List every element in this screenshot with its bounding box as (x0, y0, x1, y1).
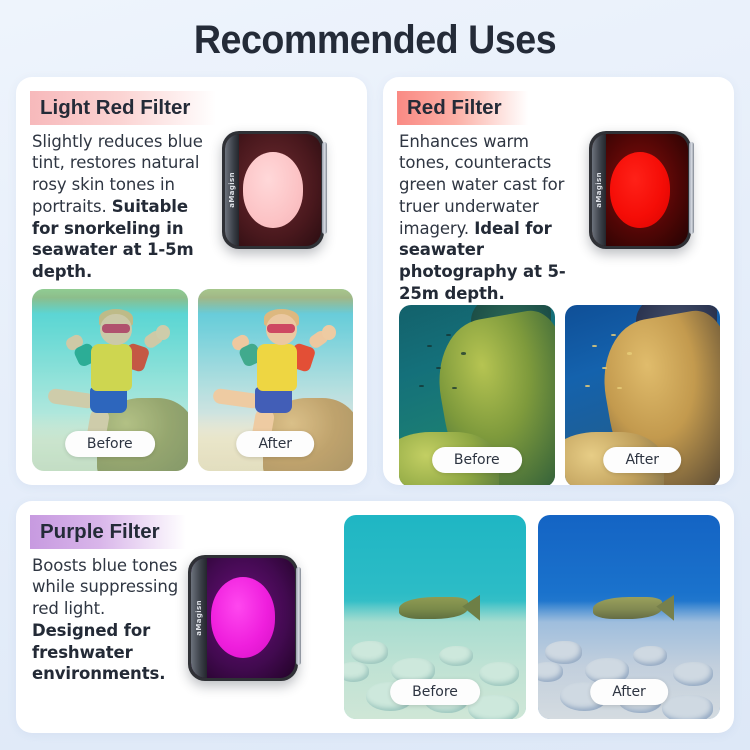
photo-pair-purple: Before After (344, 515, 720, 719)
card-purple-filter: Purple Filter Boosts blue tones while su… (16, 501, 734, 733)
filter-product-image-purple: aMagisn (188, 555, 298, 686)
card-red-filter: Red Filter Enhances warm tones, countera… (383, 77, 734, 485)
filter-title-red: Red Filter (397, 91, 528, 125)
photo-pair-light-red: Before After (32, 289, 353, 471)
filter-body-light-red: aMagisn (225, 134, 321, 246)
description-row-red: Enhances warm tones, counteracts green w… (399, 131, 720, 305)
description-plain-purple: Boosts blue tones while suppressing red … (32, 556, 178, 619)
filter-side-rail-purple: aMagisn (191, 558, 207, 678)
description-bold-purple: Designed for freshwater environments. (32, 621, 165, 684)
filter-title-light-red: Light Red Filter (30, 91, 216, 125)
photo-before-red: Before (399, 305, 555, 485)
filter-product-image-light-red: aMagisn (222, 131, 324, 283)
photo-after-purple: After (538, 515, 720, 719)
filter-lens-light-red (243, 152, 303, 228)
photo-pair-red: Before After (399, 305, 720, 485)
photo-label-before: Before (390, 679, 480, 705)
filter-side-rail-light-red: aMagisn (225, 134, 239, 246)
filter-frame-purple: aMagisn (188, 555, 298, 681)
filter-lens-red (610, 152, 670, 228)
filter-frame-light-red: aMagisn (222, 131, 324, 249)
photo-before-purple: Before (344, 515, 526, 719)
photo-after-red: After (565, 305, 721, 485)
brand-label: aMagisn (195, 600, 203, 636)
top-card-row: Light Red Filter Slightly reduces blue t… (16, 77, 734, 485)
description-purple: Boosts blue tones while suppressing red … (32, 555, 182, 686)
photo-label-before: Before (65, 431, 155, 457)
filter-side-rail-red: aMagisn (592, 134, 606, 246)
filter-product-image-red: aMagisn (589, 131, 691, 305)
photo-label-before: Before (432, 447, 522, 473)
description-row-purple: Boosts blue tones while suppressing red … (32, 555, 332, 686)
description-row-light-red: Slightly reduces blue tint, restores nat… (32, 131, 353, 283)
photo-after-light-red: After (198, 289, 354, 471)
description-red: Enhances warm tones, counteracts green w… (399, 131, 583, 305)
purple-filter-left-column: Purple Filter Boosts blue tones while su… (32, 515, 332, 719)
page-title: Recommended Uses (38, 0, 713, 77)
brand-label: aMagisn (228, 172, 236, 208)
filter-frame-red: aMagisn (589, 131, 691, 249)
description-light-red: Slightly reduces blue tint, restores nat… (32, 131, 216, 283)
card-light-red-filter: Light Red Filter Slightly reduces blue t… (16, 77, 367, 485)
filter-title-purple: Purple Filter (30, 515, 186, 549)
photo-label-after: After (590, 679, 668, 705)
photo-label-after: After (236, 431, 314, 457)
filter-body-red: aMagisn (592, 134, 688, 246)
filter-lens-purple (211, 577, 275, 659)
infographic-page: Recommended Uses Light Red Filter Slight… (0, 0, 750, 750)
filter-body-purple: aMagisn (191, 558, 295, 678)
photo-before-light-red: Before (32, 289, 188, 471)
photo-label-after: After (603, 447, 681, 473)
brand-label: aMagisn (595, 172, 603, 208)
